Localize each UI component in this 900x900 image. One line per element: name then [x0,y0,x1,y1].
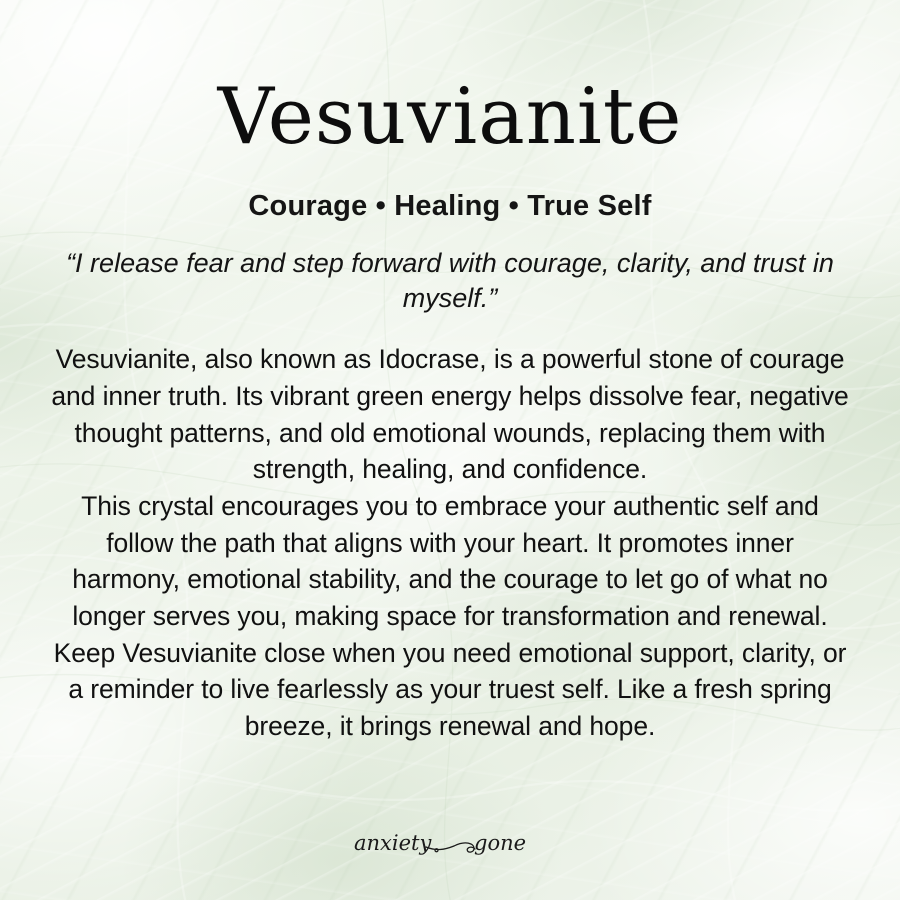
description-paragraph-2: This crystal encourages you to embrace y… [50,488,850,635]
logo-swirl-flourish-icon [426,843,475,852]
description-paragraph-1: Vesuvianite, also known as Idocrase, is … [50,341,850,488]
affirmation-quote: “I release fear and step forward with co… [55,246,845,316]
keywords-subtitle: Courage • Healing • True Self [248,190,651,223]
description-body: Vesuvianite, also known as Idocrase, is … [50,341,850,745]
logo-word-right: gone [474,831,526,855]
page-title: Vesuvianite [218,78,683,156]
anxiety-gone-wordmark: anxiety gone [350,820,550,864]
card-content: Vesuvianite Courage • Healing • True Sel… [0,0,900,900]
description-paragraph-3: Keep Vesuvianite close when you need emo… [50,635,850,745]
brand-logo: anxiety gone [350,820,550,864]
logo-word-left: anxiety [354,831,432,855]
crystal-info-card: Vesuvianite Courage • Healing • True Sel… [0,0,900,900]
